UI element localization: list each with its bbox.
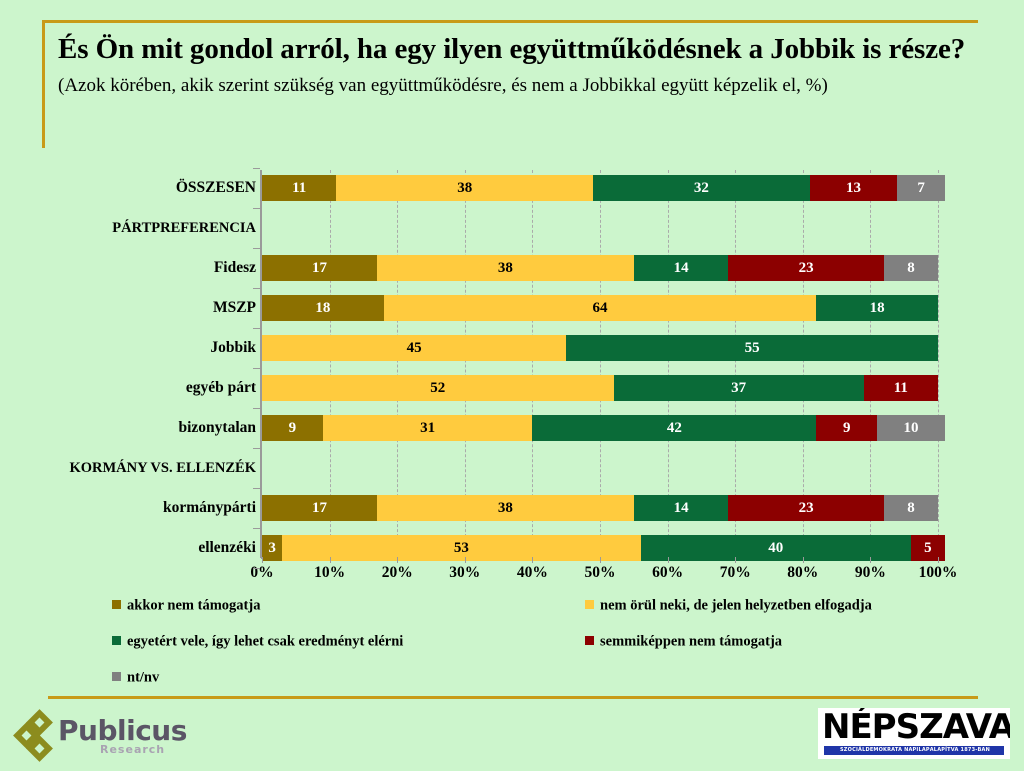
- legend-item[interactable]: egyetért vele, így lehet csak eredményt …: [112, 630, 403, 652]
- x-axis-tick: [668, 557, 669, 563]
- bar-segment: 14: [634, 495, 729, 521]
- bar-segment: 18: [816, 295, 938, 321]
- chart-row-label: ÖSSZESEN: [20, 168, 256, 208]
- bar-segment: 14: [634, 255, 729, 281]
- x-axis-tick: [938, 557, 939, 563]
- publicus-research-logo: Publicus Research: [14, 712, 174, 762]
- legend-item[interactable]: akkor nem támogatja: [112, 594, 260, 616]
- y-axis-tick: [253, 528, 260, 529]
- bar-segment: 23: [728, 495, 883, 521]
- stacked-bar: 186418: [262, 295, 938, 321]
- y-axis-tick: [253, 568, 260, 569]
- bar-segment: 18: [262, 295, 384, 321]
- bar-segment: 9: [262, 415, 323, 441]
- y-axis-tick: [253, 408, 260, 409]
- nepszava-tagline-left: SZOCIÁLDEMOKRATA NAPILAP: [840, 746, 930, 755]
- chart-row-label: kormánypárti: [20, 488, 256, 528]
- stacked-bar: 173814238: [262, 495, 938, 521]
- y-axis-tick: [253, 488, 260, 489]
- slide-frame-bottom-rule: [48, 696, 978, 699]
- y-axis-tick: [253, 168, 260, 169]
- x-axis-tick: [262, 557, 263, 563]
- bar-segment: 7: [897, 175, 944, 201]
- x-axis-tick-label: 30%: [430, 564, 500, 582]
- stacked-bar: 113832137: [262, 175, 938, 201]
- chart-row: Jobbik4555: [0, 328, 1024, 368]
- x-axis-tick-label: 60%: [633, 564, 703, 582]
- bar-segment: 23: [728, 255, 883, 281]
- x-axis-tick: [397, 557, 398, 563]
- slide-frame-left-rule: [42, 20, 45, 148]
- chart-group-heading-row: PÁRTPREFERENCIA: [0, 208, 1024, 248]
- x-axis-tick: [465, 557, 466, 563]
- y-axis-tick: [253, 328, 260, 329]
- stacked-bar: 93142910: [262, 415, 938, 441]
- legend-label: nt/nv: [127, 670, 159, 686]
- bar-segment: 32: [593, 175, 809, 201]
- x-axis-tick-label: 80%: [768, 564, 838, 582]
- chart-row-label: ellenzéki: [20, 528, 256, 568]
- x-axis-tick-label: 40%: [497, 564, 567, 582]
- bar-segment: 45: [262, 335, 566, 361]
- x-axis-tick: [532, 557, 533, 563]
- nepszava-tagline-strip: SZOCIÁLDEMOKRATA NAPILAP ALAPÍTVA 1873-B…: [824, 746, 1004, 755]
- y-axis-tick: [253, 208, 260, 209]
- y-axis-tick: [253, 248, 260, 249]
- x-axis-tick-label: 100%: [903, 564, 973, 582]
- x-axis-tick-label: 70%: [700, 564, 770, 582]
- x-axis-tick-label: 20%: [362, 564, 432, 582]
- chart-row: egyéb párt523711: [0, 368, 1024, 408]
- legend-label: semmiképpen nem támogatja: [600, 634, 782, 650]
- legend-swatch-icon: [585, 636, 594, 645]
- bar-segment: 9: [816, 415, 877, 441]
- page-title: És Ön mit gondol arról, ha egy ilyen egy…: [58, 30, 968, 69]
- legend-label: akkor nem támogatja: [127, 598, 260, 614]
- chart-group-label: PÁRTPREFERENCIA: [20, 208, 256, 248]
- bar-segment: 17: [262, 495, 377, 521]
- bar-segment: 38: [336, 175, 593, 201]
- x-axis-tick: [600, 557, 601, 563]
- title-block: És Ön mit gondol arról, ha egy ilyen egy…: [58, 30, 968, 97]
- bar-segment: 37: [614, 375, 864, 401]
- legend-label: nem örül neki, de jelen helyzetben elfog…: [600, 598, 872, 614]
- chart-row: bizonytalan93142910: [0, 408, 1024, 448]
- nepszava-tagline-right: ALAPÍTVA 1873-BAN: [930, 746, 990, 755]
- x-axis-tick: [735, 557, 736, 563]
- bar-segment: 55: [566, 335, 938, 361]
- bar-segment: 11: [864, 375, 938, 401]
- legend-swatch-icon: [112, 672, 121, 681]
- x-axis-tick: [803, 557, 804, 563]
- bar-segment: 10: [877, 415, 945, 441]
- y-axis-tick: [253, 288, 260, 289]
- chart-row-label: MSZP: [20, 288, 256, 328]
- stacked-bar: 4555: [262, 335, 938, 361]
- bar-segment: 52: [262, 375, 614, 401]
- legend-swatch-icon: [585, 600, 594, 609]
- bar-segment: 13: [810, 175, 898, 201]
- chart-row-label: Fidesz: [20, 248, 256, 288]
- x-axis-tick: [330, 557, 331, 563]
- chart-row: kormánypárti173814238: [0, 488, 1024, 528]
- bar-segment: 64: [384, 295, 817, 321]
- legend-item[interactable]: nt/nv: [112, 666, 159, 688]
- chart-row-label: bizonytalan: [20, 408, 256, 448]
- bar-segment: 11: [262, 175, 336, 201]
- bar-segment: 3: [262, 535, 282, 561]
- bar-segment: 17: [262, 255, 377, 281]
- chart-group-label: KORMÁNY VS. ELLENZÉK: [20, 448, 256, 488]
- chart-row-label: Jobbik: [20, 328, 256, 368]
- bar-segment: 5: [911, 535, 945, 561]
- stacked-bar-chart: ÖSSZESEN113832137PÁRTPREFERENCIAFidesz17…: [0, 168, 1024, 578]
- legend-swatch-icon: [112, 636, 121, 645]
- nepszava-wordmark: NÉPSZAVA: [822, 708, 1010, 747]
- bar-segment: 53: [282, 535, 640, 561]
- nepszava-logo: NÉPSZAVA SZOCIÁLDEMOKRATA NAPILAP ALAPÍT…: [818, 708, 1010, 759]
- bar-segment: 8: [884, 495, 938, 521]
- chart-row: Fidesz173814238: [0, 248, 1024, 288]
- x-axis-tick: [870, 557, 871, 563]
- y-axis-tick: [253, 368, 260, 369]
- x-axis-tick-label: 50%: [565, 564, 635, 582]
- chart-row: MSZP186418: [0, 288, 1024, 328]
- page-subtitle: (Azok körében, akik szerint szükség van …: [58, 75, 968, 98]
- slide-frame-top-rule: [42, 20, 978, 23]
- x-axis-tick-label: 10%: [295, 564, 365, 582]
- stacked-bar: 173814238: [262, 255, 938, 281]
- y-axis-tick: [253, 448, 260, 449]
- chart-row-label: egyéb párt: [20, 368, 256, 408]
- chart-row: ÖSSZESEN113832137: [0, 168, 1024, 208]
- bar-segment: 31: [323, 415, 533, 441]
- chart-legend: akkor nem támogatjanem örül neki, de jel…: [112, 594, 972, 690]
- bar-segment: 38: [377, 255, 634, 281]
- legend-swatch-icon: [112, 600, 121, 609]
- bar-segment: 8: [884, 255, 938, 281]
- legend-item[interactable]: semmiképpen nem támogatja: [585, 630, 782, 652]
- legend-label: egyetért vele, így lehet csak eredményt …: [127, 634, 403, 650]
- legend-item[interactable]: nem örül neki, de jelen helyzetben elfog…: [585, 594, 872, 616]
- stacked-bar: 523711: [262, 375, 938, 401]
- chart-group-heading-row: KORMÁNY VS. ELLENZÉK: [0, 448, 1024, 488]
- x-axis-tick-label: 0%: [227, 564, 297, 582]
- x-axis-tick-label: 90%: [835, 564, 905, 582]
- publicus-sub-wordmark: Research: [100, 743, 165, 756]
- bar-segment: 42: [532, 415, 816, 441]
- bar-segment: 38: [377, 495, 634, 521]
